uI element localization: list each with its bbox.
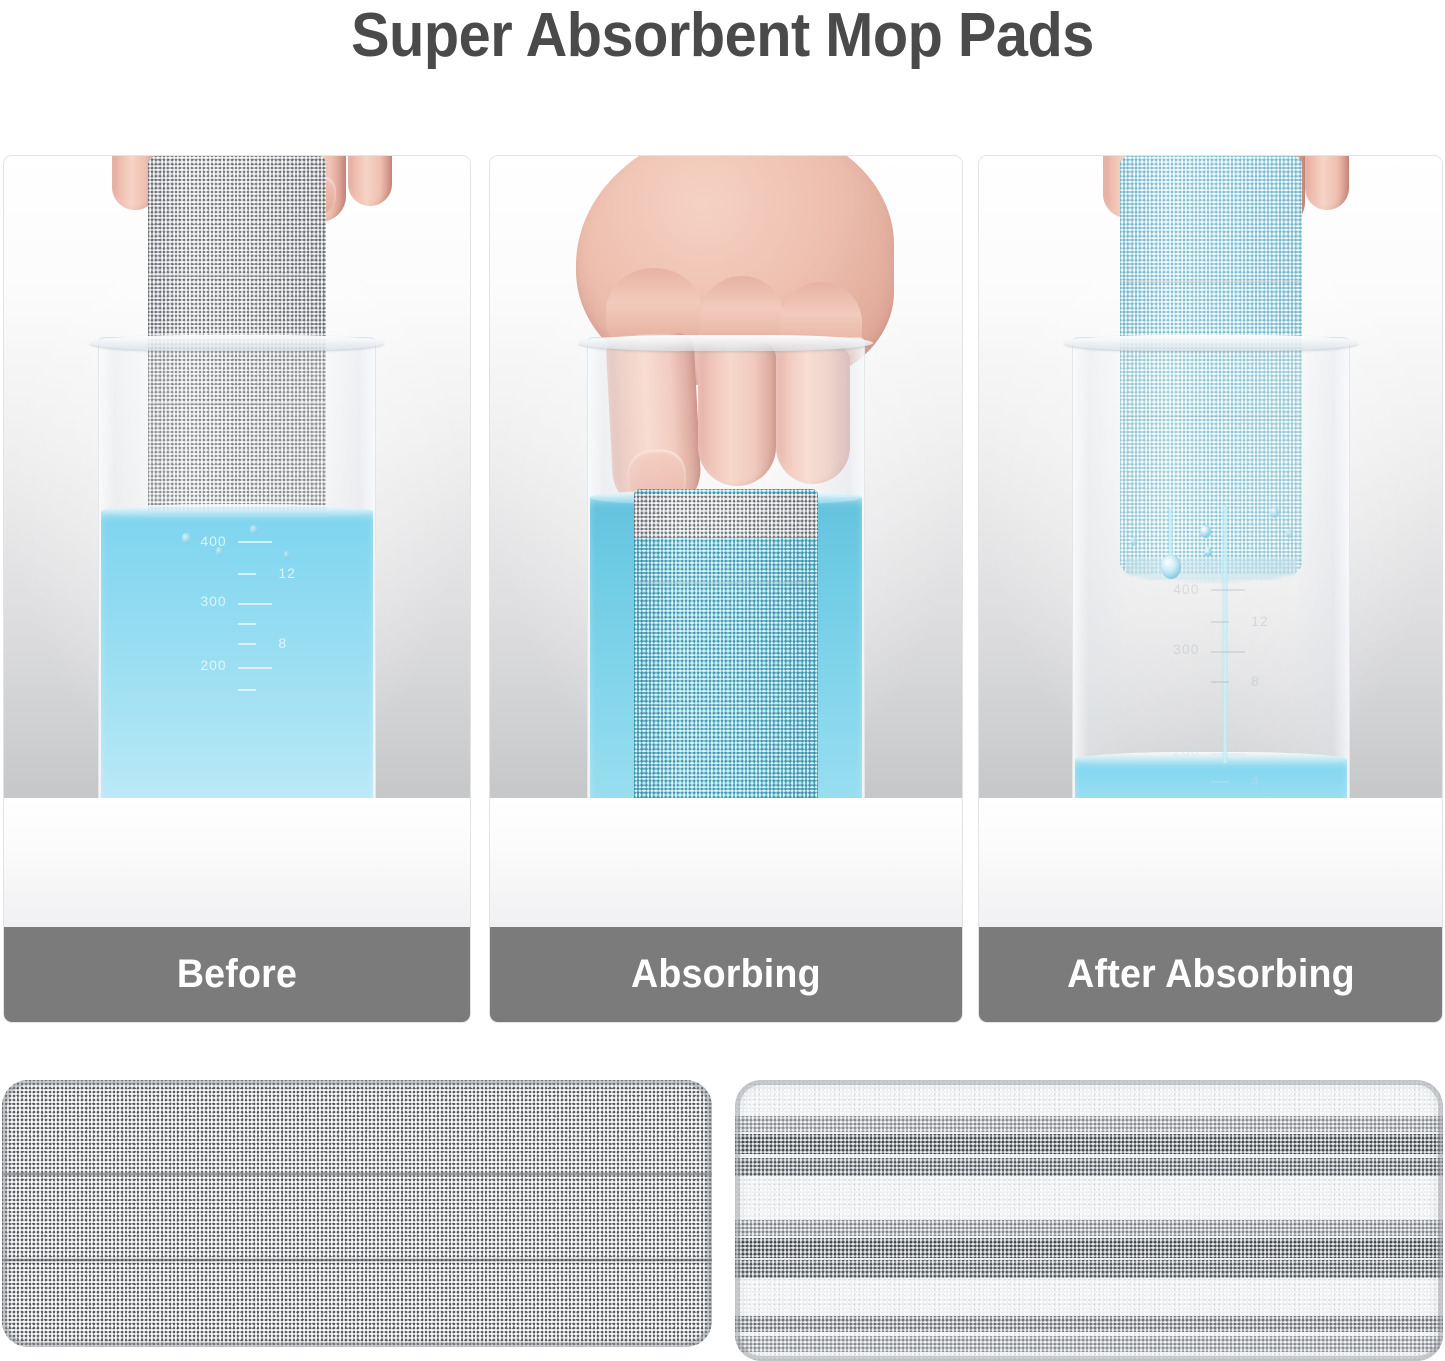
mark-label: 12 [278,565,296,581]
water-droplet [216,547,223,556]
water-droplet [1270,507,1279,518]
product-infographic: Super Absorbent Mop Pads [0,0,1445,1361]
beaker-shadow [1046,841,1376,879]
mark-label: 8 [1251,673,1260,689]
mark-label: 12 [1251,613,1269,629]
beaker-base [102,827,372,857]
product-pad-row [0,1080,1445,1361]
mark-tick [238,689,256,691]
water-droplet [1200,525,1211,538]
mark-label: 200 [200,657,226,673]
water-droplet [1204,547,1212,557]
water-droplet [1161,555,1181,579]
beaker-base [1076,827,1346,857]
product-pad-gray [2,1080,712,1347]
mark-tick [1211,651,1245,653]
page-title: Super Absorbent Mop Pads [51,2,1395,70]
beaker-rim [579,335,873,351]
beaker-rim [90,335,384,351]
pad-seam [634,703,818,706]
pad-edge [735,1080,1443,1361]
beaker-shadow [72,841,402,879]
mark-tick [238,603,272,605]
mark-tick [238,643,256,645]
pad-seam [148,274,326,277]
liquid-level-after [1075,759,1347,855]
water-droplet [250,525,258,535]
caption-text: Before [177,952,297,997]
product-pad-striped [735,1080,1443,1361]
beaker-before: 400 12 300 8 200 [98,337,376,857]
caption-text: Absorbing [631,952,821,997]
mark-tick [238,541,272,543]
demo-panel-before: 400 12 300 8 200 [3,155,471,1023]
beaker-measurement-marks: 400 12 300 8 200 [204,511,314,855]
pad-edge [2,1080,712,1347]
demo-panel-after-absorbing: 400 12 300 8 200 4 [978,155,1443,1023]
beaker-shadow [561,841,891,879]
liquid-surface [101,504,373,519]
beaker-absorbing [587,337,865,857]
pad-seam [634,581,818,584]
finger-icon [348,155,392,206]
scene-after-absorbing: 400 12 300 8 200 4 [979,156,1442,929]
mark-tick [1211,589,1245,591]
water-droplet [1130,537,1137,546]
demo-panel-absorbing: Absorbing [489,155,963,1023]
beaker-rim [1064,335,1358,351]
demo-panel-row: 400 12 300 8 200 [0,155,1445,1023]
mark-label: 400 [200,533,226,549]
mark-label: 8 [278,635,287,651]
panel-caption-absorbing: Absorbing [490,927,962,1022]
pad-seam [1120,280,1302,283]
drip-stream [1222,505,1228,763]
mop-pad-submerged [634,489,818,829]
mop-pad-dry-top [634,493,818,537]
finger-icon [1305,155,1349,210]
caption-text: After Absorbing [1067,952,1355,997]
liquid-surface [1075,752,1347,767]
panel-caption-after-absorbing: After Absorbing [979,927,1442,1022]
mark-label: 300 [1173,641,1199,657]
water-droplet [1286,529,1293,538]
mark-label: 400 [1173,581,1199,597]
liquid-level-before: 400 12 300 8 200 [101,511,373,855]
water-droplet [284,551,290,559]
mark-label: 300 [200,593,226,609]
scene-before: 400 12 300 8 200 [4,156,470,929]
beaker-after: 400 12 300 8 200 4 [1072,337,1350,857]
beaker-base [591,827,861,857]
water-droplet [182,533,191,544]
scene-absorbing [490,156,962,929]
mark-tick [238,623,256,625]
mark-tick [238,667,272,669]
mark-tick [238,573,256,575]
panel-caption-before: Before [4,927,470,1022]
